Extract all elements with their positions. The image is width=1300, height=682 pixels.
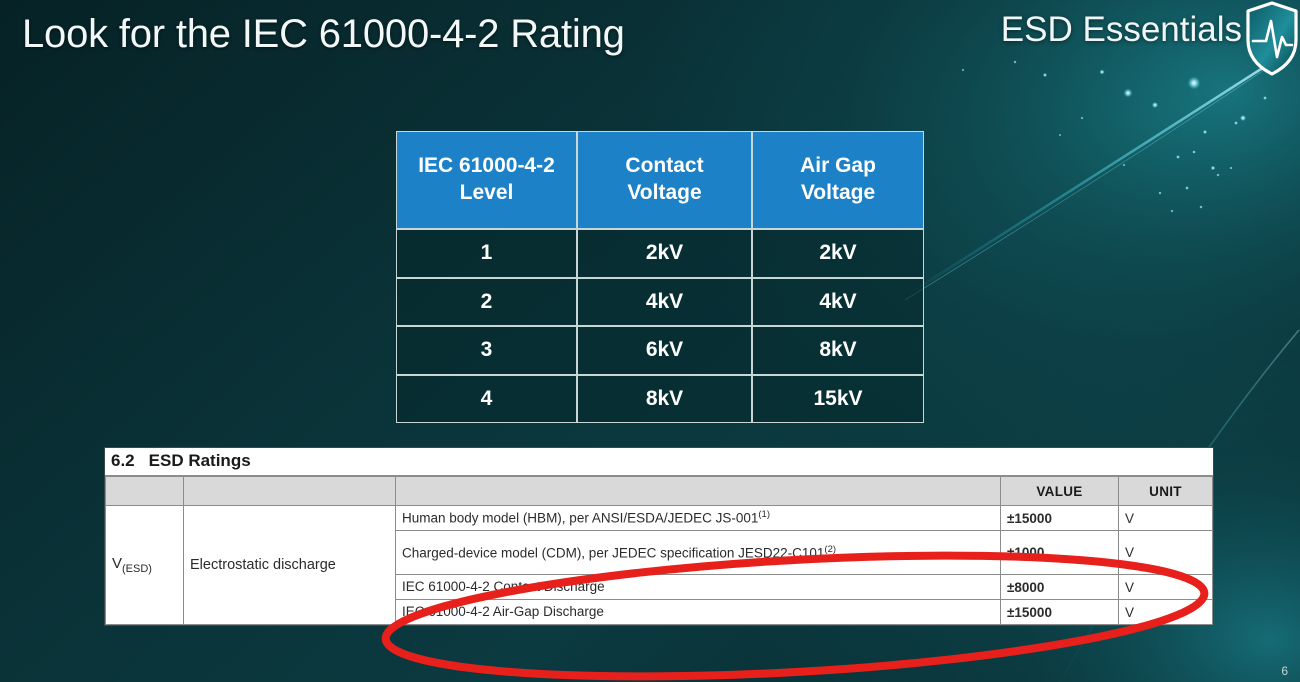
unit-hbm: V <box>1119 506 1213 531</box>
slide-canvas: Look for the IEC 61000-4-2 Rating ESD Es… <box>0 0 1300 682</box>
cell-level: 3 <box>396 326 577 375</box>
description-cdm: Charged-device model (CDM), per JEDEC sp… <box>396 531 1001 575</box>
description-hbm: Human body model (HBM), per ANSI/ESDA/JE… <box>396 506 1001 531</box>
description-text: Charged-device model (CDM), per JEDEC sp… <box>402 545 824 560</box>
column-header-airgap-line1: Air Gap <box>753 153 923 180</box>
table-header-row: IEC 61000-4-2 Level Contact Voltage Air … <box>396 131 924 229</box>
page-title: Look for the IEC 61000-4-2 Rating <box>22 12 625 57</box>
value-hbm: ±15000 <box>1001 506 1119 531</box>
section-title: ESD Ratings <box>149 451 251 470</box>
column-header-description <box>396 477 1001 506</box>
cell-contact-voltage: 6kV <box>577 326 752 375</box>
cell-air-gap-voltage: 8kV <box>752 326 924 375</box>
column-header-parameter <box>184 477 396 506</box>
cell-contact-voltage: 8kV <box>577 375 752 424</box>
symbol-letter: V <box>112 555 122 572</box>
section-number: 6.2 <box>111 451 135 470</box>
description-iec-contact: IEC 61000-4-2 Contact Discharge <box>396 575 1001 600</box>
cell-air-gap-voltage: 15kV <box>752 375 924 424</box>
value-iec-airgap: ±15000 <box>1001 600 1119 625</box>
shield-pulse-icon <box>1244 0 1300 78</box>
datasheet-section-heading: 6.2ESD Ratings <box>105 448 1213 476</box>
footnote-marker: (1) <box>758 509 770 520</box>
column-header-level-line2: Level <box>397 180 576 207</box>
table-row: 2 4kV 4kV <box>396 278 924 327</box>
column-header-contact-voltage: Contact Voltage <box>577 131 752 229</box>
value-cdm: ±1000 <box>1001 531 1119 575</box>
unit-cdm: V <box>1119 531 1213 575</box>
esd-ratings-table: VALUE UNIT V(ESD) Electrostatic discharg… <box>105 476 1213 625</box>
cell-level: 1 <box>396 229 577 278</box>
description-text: Human body model (HBM), per ANSI/ESDA/JE… <box>402 511 758 526</box>
table-header-row: VALUE UNIT <box>106 477 1213 506</box>
column-header-symbol <box>106 477 184 506</box>
cell-contact-voltage: 2kV <box>577 229 752 278</box>
unit-iec-contact: V <box>1119 575 1213 600</box>
description-iec-airgap: IEC 61000-4-2 Air-Gap Discharge <box>396 600 1001 625</box>
column-header-value: VALUE <box>1001 477 1119 506</box>
cell-level: 2 <box>396 278 577 327</box>
page-number: 6 <box>1281 664 1288 678</box>
column-header-level-line1: IEC 61000-4-2 <box>397 153 576 180</box>
column-header-contact-line2: Voltage <box>578 180 751 207</box>
cell-level: 4 <box>396 375 577 424</box>
datasheet-excerpt: 6.2ESD Ratings VALUE UNIT V(ESD) Electro… <box>105 448 1213 625</box>
cell-air-gap-voltage: 2kV <box>752 229 924 278</box>
symbol-vesd: V(ESD) <box>106 506 184 625</box>
table-row: V(ESD) Electrostatic discharge Human bod… <box>106 506 1213 531</box>
symbol-subscript: (ESD) <box>122 563 152 575</box>
brand-label: ESD Essentials <box>1001 10 1242 50</box>
column-header-unit: UNIT <box>1119 477 1213 506</box>
column-header-airgap-line2: Voltage <box>753 180 923 207</box>
table-row: 3 6kV 8kV <box>396 326 924 375</box>
cell-air-gap-voltage: 4kV <box>752 278 924 327</box>
iec-level-table: IEC 61000-4-2 Level Contact Voltage Air … <box>396 131 924 423</box>
cell-contact-voltage: 4kV <box>577 278 752 327</box>
column-header-air-gap-voltage: Air Gap Voltage <box>752 131 924 229</box>
column-header-contact-line1: Contact <box>578 153 751 180</box>
table-row: 4 8kV 15kV <box>396 375 924 424</box>
table-row: 1 2kV 2kV <box>396 229 924 278</box>
value-iec-contact: ±8000 <box>1001 575 1119 600</box>
parameter-electrostatic-discharge: Electrostatic discharge <box>184 506 396 625</box>
unit-iec-airgap: V <box>1119 600 1213 625</box>
footnote-marker: (2) <box>824 544 836 555</box>
column-header-level: IEC 61000-4-2 Level <box>396 131 577 229</box>
